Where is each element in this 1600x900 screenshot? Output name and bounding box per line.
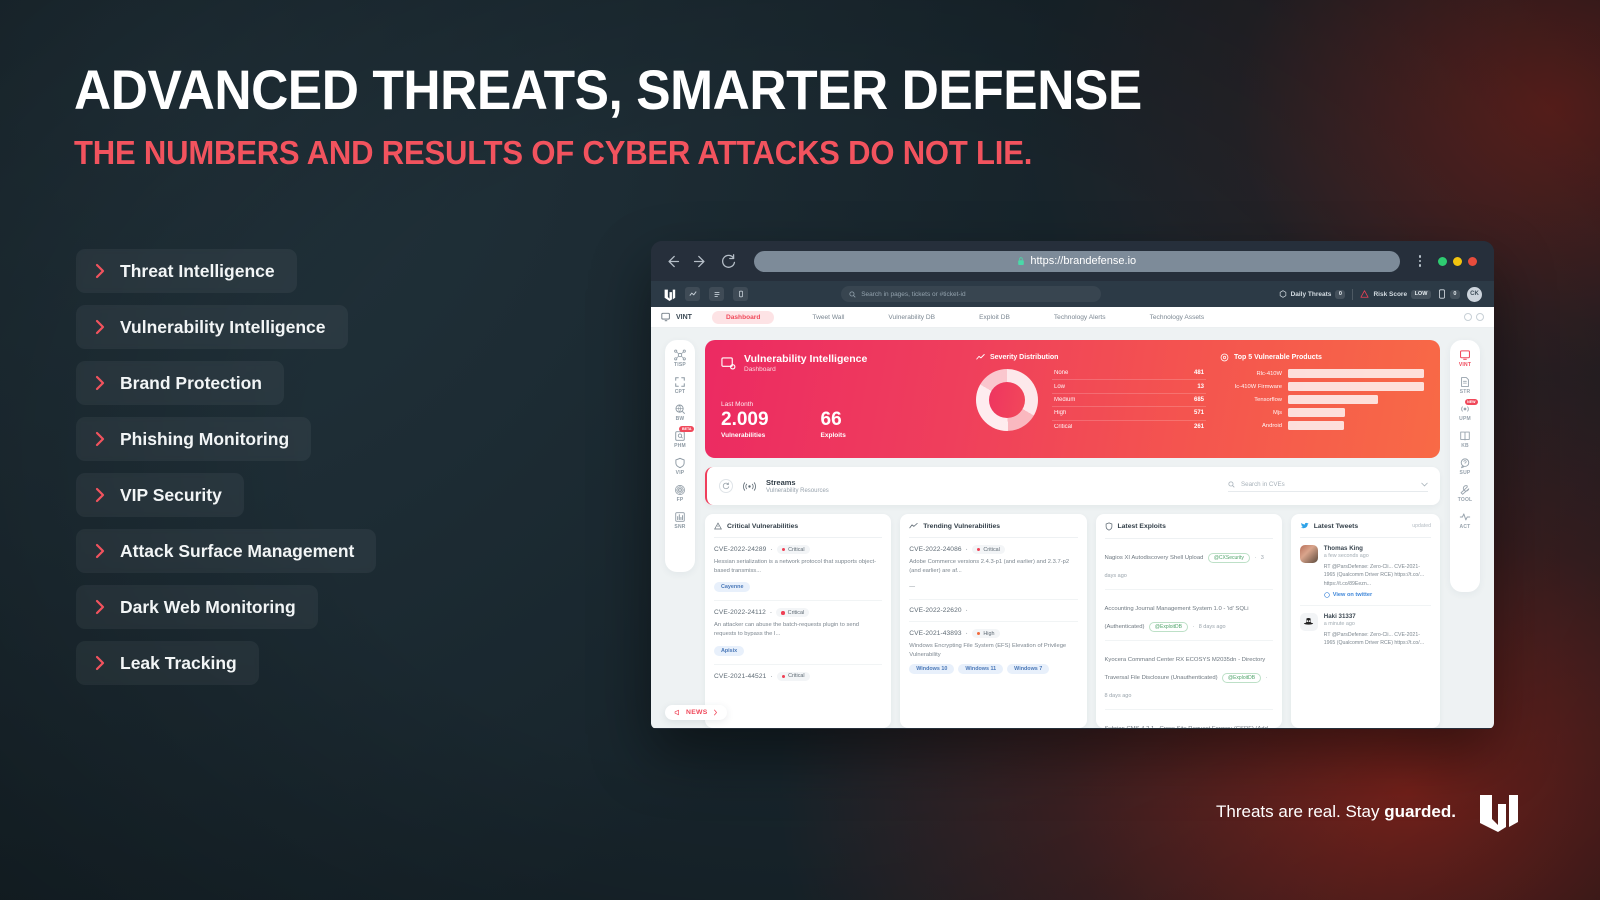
severity-badge: Critical <box>776 608 809 617</box>
feature-label: VIP Security <box>120 485 222 506</box>
tweet-body-wrap: Thomas King a few seconds ago RT @ParsDe… <box>1324 545 1431 598</box>
rail-item-vint[interactable]: VINT <box>1459 349 1471 368</box>
column-header: Latest Exploits <box>1105 522 1273 539</box>
window-controls[interactable] <box>1438 257 1481 266</box>
entry-description: Windows Encrypting File System (EFS) Ele… <box>909 642 1077 659</box>
product-bar-row: Ic-410W Firmware <box>1220 382 1424 391</box>
twitter-bird-icon <box>1300 522 1309 530</box>
list-item[interactable]: Nagios XI Autodiscovery Shell Upload @CX… <box>1105 539 1273 590</box>
network-nodes-icon <box>674 349 686 361</box>
bar-fill <box>1288 421 1344 430</box>
back-arrow-icon[interactable] <box>664 253 681 270</box>
tab-exploit-db[interactable]: Exploit DB <box>979 311 1010 324</box>
brandefense-logo-icon <box>663 288 676 301</box>
chevron-right-icon <box>94 487 106 503</box>
entry-description: Hessian serialization is a network proto… <box>714 558 882 575</box>
feature-list: Threat Intelligence Vulnerability Intell… <box>76 249 376 685</box>
severity-text: Critical <box>788 547 804 553</box>
view-on-twitter-link[interactable]: View on twitter <box>1324 592 1431 598</box>
help-icon[interactable] <box>1464 313 1472 321</box>
severity-label: Medium <box>1054 397 1075 403</box>
chevron-right-icon <box>94 375 106 391</box>
support-chat-icon <box>1459 457 1471 469</box>
device-badge: 0 <box>1450 290 1460 299</box>
rail-item-str[interactable]: STR <box>1459 376 1471 395</box>
tab-dashboard[interactable]: Dashboard <box>712 311 774 324</box>
search-icon <box>849 291 856 298</box>
column-latest-tweets: Latest Tweets updated Thomas King a few … <box>1291 514 1440 728</box>
streams-title: Streams <box>766 478 829 487</box>
rail-item-sup[interactable]: SUP <box>1459 457 1471 476</box>
severity-row-medium: Medium685 <box>1052 394 1206 407</box>
list-item[interactable]: Accounting Journal Management System 1.0… <box>1105 590 1273 641</box>
bar-track <box>1288 382 1424 391</box>
url-bar[interactable]: https://brandefense.io <box>754 251 1400 272</box>
hero-card-subtitle: Dashboard <box>744 366 867 373</box>
stat-vulnerabilities: 2.009 Vulnerabilities <box>721 410 769 439</box>
daily-threats-value: 0 <box>1335 290 1345 299</box>
source-chip: @ExploitDB <box>1149 622 1188 632</box>
trend-line-icon <box>909 522 918 530</box>
top-products-chart: Top 5 Vulnerable Products Rlc-410W Ic-41… <box>1206 353 1424 445</box>
window-light-red[interactable] <box>1468 257 1477 266</box>
donut-row: None481 Low13 Medium685 High571 Critical… <box>976 367 1206 433</box>
rail-label: SNR <box>674 524 685 530</box>
product-tag[interactable]: Cayenne <box>714 582 750 592</box>
column-title: Critical Vulnerabilities <box>727 523 798 530</box>
rail-item-bw[interactable]: BW <box>674 403 686 422</box>
product-label: Rlc-410W <box>1220 371 1282 377</box>
tweet-text: RT @ParsDefense: Zero-Cli... CVE-2021-19… <box>1324 631 1431 648</box>
tweet-text: RT @ParsDefense: Zero-Cli... CVE-2021-19… <box>1324 563 1431 588</box>
hexagon-icon <box>1279 290 1287 298</box>
list-item[interactable]: CVE-2021-43893 · High Windows Encrypting… <box>909 622 1077 681</box>
severity-value: 481 <box>1194 370 1204 376</box>
timestamp: · <box>1254 555 1256 561</box>
settings-icon[interactable] <box>1476 313 1484 321</box>
product-bar-row: Rlc-410W <box>1220 369 1424 378</box>
severity-title: Severity Distribution <box>990 354 1058 361</box>
severity-badge: Critical <box>777 545 810 554</box>
chevron-down-icon[interactable] <box>1421 482 1428 487</box>
list-item[interactable]: CVE-2022-24289 · Critical Hessian serial… <box>714 538 882 601</box>
mobile-icon[interactable] <box>733 287 748 301</box>
product-label: Tensorflow <box>1220 397 1282 403</box>
bar-track <box>1288 421 1424 430</box>
activity-pulse-icon <box>1459 511 1471 523</box>
severity-label: None <box>1054 370 1068 376</box>
source-chip: @ExploitDB <box>1222 673 1261 683</box>
list-item[interactable]: Haki 31337 a minute ago RT @ParsDefense:… <box>1300 606 1431 655</box>
severity-badge: High <box>972 629 1000 638</box>
hero-left: Vulnerability Intelligence Dashboard Las… <box>721 353 976 445</box>
cve-line: CVE-2022-22620 · <box>909 607 1077 614</box>
severity-row-high: High571 <box>1052 407 1206 420</box>
tab-technology-alerts[interactable]: Technology Alerts <box>1054 311 1106 324</box>
shield-icon <box>674 457 686 469</box>
list-icon[interactable] <box>709 287 724 301</box>
headline-block: ADVANCED THREATS, SMARTER DEFENSE THE NU… <box>74 60 1235 172</box>
chevron-right-icon <box>94 431 106 447</box>
footer: Threats are real. Stay guarded. <box>1216 792 1520 832</box>
stat-exploits: 66 Exploits <box>821 410 846 439</box>
product-tag: — <box>909 583 1077 592</box>
tabbar-brand-label: VINT <box>676 314 692 321</box>
rail-item-cpt[interactable]: CPT <box>674 376 686 395</box>
risk-score-value: LOW <box>1411 290 1431 299</box>
rail-item-tisp[interactable]: TISP <box>674 349 686 368</box>
severity-text: Critical <box>788 673 804 679</box>
severity-value: 685 <box>1194 397 1204 403</box>
cve-id: CVE-2021-44521 <box>714 673 766 680</box>
cve-id: CVE-2021-43893 <box>909 630 961 637</box>
severity-label: Critical <box>1054 424 1072 430</box>
app-body: TISP CPT BW BETA PHM VIP FP <box>651 328 1494 728</box>
new-badge: NEW <box>1465 399 1478 405</box>
cve-line: CVE-2021-44521 · Critical <box>714 672 882 681</box>
severity-row-none: None481 <box>1052 367 1206 380</box>
mobile-device-icon <box>1438 289 1446 299</box>
list-item[interactable]: Kyocera Command Center RX ECOSYS M2035dn… <box>1105 641 1273 710</box>
tweet-author: Haki 31337 <box>1324 613 1431 620</box>
browser-window: https://brandefense.io Search in pages, … <box>651 241 1494 729</box>
bar-track <box>1288 369 1424 378</box>
list-item[interactable]: CVE-2021-44521 · Critical <box>714 665 882 688</box>
crop-frame-icon <box>674 376 686 388</box>
warning-triangle-icon <box>714 522 722 530</box>
tweet-author: Thomas King <box>1324 545 1431 552</box>
tabbar-actions <box>1464 313 1484 321</box>
avatar <box>1300 545 1318 563</box>
separator: · <box>966 630 968 637</box>
rail-item-snr[interactable]: SNR <box>674 511 686 530</box>
rail-label: UPM <box>1459 416 1471 422</box>
separator: · <box>770 546 772 553</box>
trend-line-icon <box>976 353 985 362</box>
feature-item-vulnerability-intelligence[interactable]: Vulnerability Intelligence <box>76 305 348 349</box>
hero-stats: 2.009 Vulnerabilities 66 Exploits <box>721 410 976 439</box>
daily-threats-label: Daily Threats <box>1291 291 1332 298</box>
separator: · <box>966 607 968 614</box>
feature-item-attack-surface-management[interactable]: Attack Surface Management <box>76 529 376 573</box>
brandefense-logo-icon <box>1478 792 1520 832</box>
window-light-green[interactable] <box>1438 257 1447 266</box>
product-label: Android <box>1220 423 1282 429</box>
search-icon <box>1228 481 1235 488</box>
chevron-right-icon <box>713 709 718 716</box>
rail-label: VINT <box>1459 362 1471 368</box>
dashboard-main: Vulnerability Intelligence Dashboard Las… <box>695 328 1450 728</box>
cve-id: CVE-2022-24112 <box>714 609 766 616</box>
chevron-right-icon <box>94 599 106 615</box>
tweet-body-wrap: Haki 31337 a minute ago RT @ParsDefense:… <box>1324 613 1431 648</box>
bar-fill <box>1288 395 1378 404</box>
rail-label: TISP <box>674 362 686 368</box>
kebab-menu-icon[interactable] <box>1417 255 1428 267</box>
list-item[interactable]: Subrion CMS 4.2.1 - Cross Site Request F… <box>1105 710 1273 728</box>
refresh-icon[interactable] <box>719 479 733 493</box>
window-light-yellow[interactable] <box>1453 257 1462 266</box>
rail-item-fp[interactable]: FP <box>674 484 686 503</box>
severity-label: High <box>1054 410 1066 416</box>
vulnerability-intelligence-card: Vulnerability Intelligence Dashboard Las… <box>705 340 1440 458</box>
timestamp: · <box>1266 675 1268 681</box>
os-tags: Windows 10 Windows 11 Windows 7 <box>909 664 1077 674</box>
dashboard-window-icon <box>721 356 736 371</box>
beta-badge: BETA <box>679 426 694 432</box>
hero-title-row: Vulnerability Intelligence Dashboard <box>721 353 976 373</box>
stat-label: Vulnerabilities <box>721 432 769 439</box>
column-latest-exploits: Latest Exploits Nagios XI Autodiscovery … <box>1096 514 1282 728</box>
severity-value: 13 <box>1197 384 1204 390</box>
rail-label: STR <box>1460 389 1471 395</box>
separator: · <box>770 673 772 680</box>
os-tag[interactable]: Windows 7 <box>1007 664 1049 674</box>
products-title: Top 5 Vulnerable Products <box>1234 354 1322 361</box>
tab-vulnerability-db[interactable]: Vulnerability DB <box>888 311 935 324</box>
risk-score-stat[interactable]: Risk Score LOW <box>1360 290 1430 299</box>
feature-item-brand-protection[interactable]: Brand Protection <box>76 361 284 405</box>
cve-line: CVE-2021-43893 · High <box>909 629 1077 638</box>
forward-arrow-icon[interactable] <box>692 253 709 270</box>
severity-table: None481 Low13 Medium685 High571 Critical… <box>1052 367 1206 433</box>
severity-value: 261 <box>1194 424 1204 430</box>
column-header: Trending Vulnerabilities <box>909 522 1077 538</box>
streams-title-block: Streams Vulnerability Resources <box>766 478 829 494</box>
tagline-bold: guarded. <box>1384 802 1456 821</box>
chevron-right-icon <box>94 655 106 671</box>
monitor-icon <box>661 312 671 322</box>
severity-distribution-chart: Severity Distribution None481 Low13 Medi… <box>976 353 1206 445</box>
avatar <box>1300 613 1318 631</box>
severity-text: Critical <box>983 547 999 553</box>
stat-value: 66 <box>821 410 846 429</box>
severity-text: Critical <box>788 610 804 616</box>
rail-label: PHM <box>674 443 686 449</box>
product-tag[interactable]: Apisix <box>714 646 744 656</box>
bug-shield-icon <box>1105 522 1113 531</box>
bar-track <box>1288 408 1424 417</box>
exploit-text: Nagios XI Autodiscovery Shell Upload <box>1105 555 1204 561</box>
rail-item-vip[interactable]: VIP <box>674 457 686 476</box>
analytics-icon[interactable] <box>685 287 700 301</box>
feature-label: Leak Tracking <box>120 653 237 674</box>
os-tag[interactable]: Windows 10 <box>909 664 954 674</box>
list-item[interactable]: Thomas King a few seconds ago RT @ParsDe… <box>1300 538 1431 606</box>
global-search-placeholder: Search in pages, tickets or #ticket-id <box>861 291 965 298</box>
severity-donut <box>976 369 1038 431</box>
cve-line: CVE-2022-24289 · Critical <box>714 545 882 554</box>
feature-label: Threat Intelligence <box>120 261 275 282</box>
severity-header: Severity Distribution <box>976 353 1206 362</box>
avatar[interactable]: CK <box>1467 287 1482 302</box>
entry-description: An attacker can abuse the batch-requests… <box>714 621 882 638</box>
lock-icon <box>1017 256 1025 266</box>
product-bar-row: Mjs <box>1220 408 1424 417</box>
feature-label: Attack Surface Management <box>120 541 354 562</box>
separator: · <box>770 609 772 616</box>
page-subtitle: THE NUMBERS AND RESULTS OF CYBER ATTACKS… <box>74 134 1165 172</box>
hero-card-title: Vulnerability Intelligence <box>744 353 867 365</box>
feature-item-threat-intelligence[interactable]: Threat Intelligence <box>76 249 297 293</box>
chevron-right-icon <box>94 319 106 335</box>
url-text: https://brandefense.io <box>1030 255 1136 267</box>
product-label: Ic-410W Firmware <box>1220 384 1282 390</box>
bar-track <box>1288 395 1424 404</box>
risk-score-label: Risk Score <box>1373 291 1407 298</box>
os-tag[interactable]: Windows 11 <box>958 664 1003 674</box>
column-title: Trending Vulnerabilities <box>923 523 1000 530</box>
chevron-right-icon <box>94 543 106 559</box>
book-icon <box>1459 430 1471 442</box>
severity-badge: Critical <box>777 672 810 681</box>
rail-item-phm[interactable]: BETA PHM <box>674 430 686 449</box>
list-item[interactable]: CVE-2022-24086 · Critical Adobe Commerce… <box>909 538 1077 600</box>
tweet-timestamp: a minute ago <box>1324 621 1431 627</box>
severity-row-critical: Critical261 <box>1052 421 1206 433</box>
list-item[interactable]: CVE-2022-24112 · Critical An attacker ca… <box>714 601 882 664</box>
header-divider <box>1352 289 1353 300</box>
updated-label: updated <box>1412 523 1431 529</box>
footer-tagline: Threats are real. Stay guarded. <box>1216 802 1456 822</box>
cve-line: CVE-2022-24086 · Critical <box>909 545 1077 554</box>
rail-item-upm[interactable]: NEW UPM <box>1459 403 1471 422</box>
column-title: Latest Exploits <box>1118 523 1166 530</box>
tab-tweet-wall[interactable]: Tweet Wall <box>812 311 844 324</box>
document-icon <box>1459 376 1471 388</box>
hat-avatar-icon <box>1302 615 1315 628</box>
feature-item-leak-tracking[interactable]: Leak Tracking <box>76 641 259 685</box>
severity-badge: Critical <box>972 545 1005 554</box>
rail-label: KB <box>1461 443 1469 449</box>
cve-line: CVE-2022-24112 · Critical <box>714 608 882 617</box>
rail-label: BW <box>676 416 685 422</box>
rail-item-act[interactable]: ACT <box>1459 511 1471 530</box>
rail-label: VIP <box>676 470 685 476</box>
feature-label: Vulnerability Intelligence <box>120 317 326 338</box>
rail-label: SUP <box>1460 470 1471 476</box>
column-critical-vulnerabilities: Critical Vulnerabilities CVE-2022-24289 … <box>705 514 891 728</box>
reload-icon[interactable] <box>720 253 737 270</box>
streams-subtitle: Vulnerability Resources <box>766 488 829 494</box>
news-label: NEWS <box>686 709 708 716</box>
link-label: View on twitter <box>1333 592 1372 598</box>
stream-columns: Critical Vulnerabilities CVE-2022-24289 … <box>705 514 1440 728</box>
severity-value: 571 <box>1194 410 1204 416</box>
rail-label: TOOL <box>1458 497 1473 503</box>
monitor-icon <box>1459 349 1471 361</box>
cve-id: CVE-2022-22620 <box>909 607 961 614</box>
last-month-label: Last Month <box>721 401 976 408</box>
list-item[interactable]: CVE-2022-22620 · <box>909 600 1077 622</box>
cve-search-placeholder: Search in CVEs <box>1241 481 1285 488</box>
timestamp: · <box>1192 624 1194 630</box>
product-bar-row: Android <box>1220 421 1424 430</box>
news-button[interactable]: NEWS <box>665 705 727 720</box>
cve-id: CVE-2022-24086 <box>909 546 961 553</box>
fingerprint-icon <box>674 484 686 496</box>
timestamp: 8 days ago <box>1199 624 1226 630</box>
stat-label: Exploits <box>821 432 846 439</box>
browser-toolbar: https://brandefense.io <box>651 241 1494 281</box>
feature-label: Dark Web Monitoring <box>120 597 296 618</box>
magnifier-globe-icon <box>674 403 686 415</box>
bar-fill <box>1288 382 1424 391</box>
tab-technology-assets[interactable]: Technology Assets <box>1150 311 1205 324</box>
entry-description: Adobe Commerce versions 2.4.3-p1 (and ea… <box>909 558 1077 575</box>
tweet-timestamp: a few seconds ago <box>1324 553 1431 559</box>
broadcast-icon <box>743 481 756 492</box>
warning-triangle-icon <box>1360 290 1369 298</box>
cve-id: CVE-2022-24289 <box>714 546 766 553</box>
feature-label: Phishing Monitoring <box>120 429 289 450</box>
product-bar-row: Tensorflow <box>1220 395 1424 404</box>
column-header: Latest Tweets updated <box>1300 522 1431 538</box>
feature-item-vip-security[interactable]: VIP Security <box>76 473 244 517</box>
source-chip: @CXSecurity <box>1208 553 1250 563</box>
device-stat[interactable]: 0 <box>1438 289 1460 299</box>
megaphone-icon <box>674 709 681 716</box>
timestamp: 8 days ago <box>1105 693 1132 699</box>
rail-label: CPT <box>675 389 686 395</box>
column-trending-vulnerabilities: Trending Vulnerabilities CVE-2022-24086 … <box>900 514 1086 728</box>
global-search-input[interactable]: Search in pages, tickets or #ticket-id <box>841 286 1101 302</box>
bar-fill <box>1288 408 1345 417</box>
target-icon <box>1220 353 1229 362</box>
exploit-text: Subrion CMS 4.2.1 - Cross Site Request F… <box>1105 726 1268 728</box>
severity-label: Low <box>1054 384 1065 390</box>
product-label: Mjs <box>1220 410 1282 416</box>
cve-search-input[interactable]: Search in CVEs <box>1228 481 1428 492</box>
feature-item-dark-web-monitoring[interactable]: Dark Web Monitoring <box>76 585 318 629</box>
severity-text: High <box>983 631 994 637</box>
wrench-icon <box>1459 484 1471 496</box>
bar-fill <box>1288 369 1424 378</box>
feature-item-phishing-monitoring[interactable]: Phishing Monitoring <box>76 417 311 461</box>
app-header-right: Daily Threats 0 Risk Score LOW 0 CK <box>1279 287 1482 302</box>
product-bars: Rlc-410W Ic-410W Firmware Tensorflow <box>1220 369 1424 430</box>
bar-chart-icon <box>674 511 686 523</box>
external-link-icon <box>1324 592 1330 598</box>
tagline-plain: Threats are real. Stay <box>1216 802 1384 821</box>
tabbar-brand: VINT <box>661 312 692 322</box>
right-rail: VINT STR NEW UPM KB SUP TOOL <box>1450 340 1480 592</box>
feature-label: Brand Protection <box>120 373 262 394</box>
stat-value: 2.009 <box>721 410 769 429</box>
column-title: Latest Tweets <box>1314 523 1358 530</box>
daily-threats-stat[interactable]: Daily Threats 0 <box>1279 290 1346 299</box>
rail-label: ACT <box>1460 524 1471 530</box>
rail-item-tool[interactable]: TOOL <box>1458 484 1473 503</box>
app-header: Search in pages, tickets or #ticket-id D… <box>651 281 1494 307</box>
column-header: Critical Vulnerabilities <box>714 522 882 538</box>
separator: · <box>966 546 968 553</box>
streams-bar: Streams Vulnerability Resources Search i… <box>705 467 1440 505</box>
rail-item-kb[interactable]: KB <box>1459 430 1471 449</box>
rail-label: FP <box>677 497 684 503</box>
page-title: ADVANCED THREATS, SMARTER DEFENSE <box>74 60 1142 120</box>
severity-row-low: Low13 <box>1052 380 1206 393</box>
chevron-right-icon <box>94 263 106 279</box>
products-header: Top 5 Vulnerable Products <box>1220 353 1424 362</box>
left-rail: TISP CPT BW BETA PHM VIP FP <box>665 340 695 572</box>
app-tabbar: VINT Dashboard Tweet Wall Vulnerability … <box>651 307 1494 328</box>
